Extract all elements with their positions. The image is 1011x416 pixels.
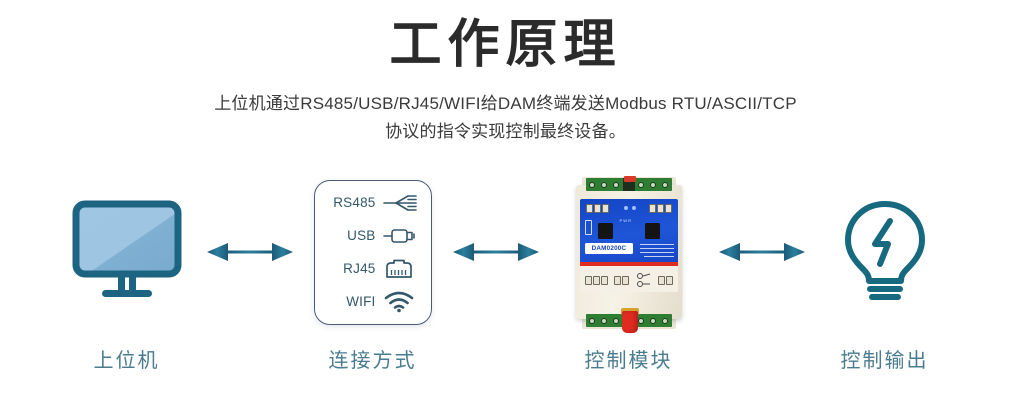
dam-device: P W R DAM0200C [568, 173, 690, 331]
device-front-panel: P W R DAM0200C [580, 199, 678, 263]
caption-control-output: 控制输出 [810, 344, 960, 373]
header: 工作原理 上位机通过RS485/USB/RJ45/WIFI给DAM终端发送Mod… [0, 0, 1011, 146]
legend-pin [658, 276, 665, 285]
legend-pin [614, 276, 621, 285]
relay-left [598, 223, 613, 239]
workflow-diagram: RS485 [0, 172, 1011, 332]
rs485-connector-icon [383, 190, 423, 216]
legend-pin [601, 276, 608, 285]
panel-pin [586, 204, 593, 213]
top-terminal-right-group [635, 178, 672, 191]
terminal-screw [650, 318, 656, 324]
terminal-screw [650, 182, 656, 188]
panel-spec-line [640, 248, 674, 249]
connection-row-usb[interactable]: USB [315, 219, 431, 252]
panel-pin [602, 204, 609, 213]
caption-host-computer: 上位机 [52, 344, 202, 373]
panel-pin [649, 204, 656, 213]
status-led [624, 206, 628, 210]
stage-control-module: P W R DAM0200C [544, 172, 714, 332]
subtitle-line-1: 上位机通过RS485/USB/RJ45/WIFI给DAM终端发送Modbus R… [0, 90, 1011, 118]
usb-connector-icon [383, 223, 423, 249]
legend-pin [593, 276, 600, 285]
rj45-port-icon [383, 256, 423, 282]
bottom-terminal-right-group [635, 314, 672, 327]
legend-pins-mid [614, 276, 629, 285]
lightbulb-lightning-icon [835, 196, 935, 309]
panel-pin [665, 204, 672, 213]
legend-pin [585, 276, 592, 285]
terminal-screw [613, 182, 619, 188]
subtitle-line-2: 协议的指令实现控制最终设备。 [0, 118, 1011, 146]
connection-row-wifi[interactable]: WIFI [315, 285, 431, 318]
caption-connection-methods: 连接方式 [298, 344, 448, 373]
connection-row-rj45[interactable]: RJ45 [315, 252, 431, 285]
page-title: 工作原理 [0, 16, 1011, 76]
panel-spec-line [640, 244, 674, 245]
connection-label-wifi: WIFI [328, 294, 376, 309]
stage-control-output [810, 172, 960, 332]
din-rail-clip [622, 311, 638, 333]
legend-pin [666, 276, 673, 285]
stage-host-computer [52, 172, 202, 332]
stage-connection-methods: RS485 [298, 172, 448, 332]
connection-label-usb: USB [328, 228, 376, 243]
device-terminal-legend [580, 266, 678, 292]
top-terminal-left-group [586, 178, 623, 191]
terminal-screw [589, 182, 595, 188]
arrow-module-to-output [714, 232, 810, 272]
bottom-terminal-left-group [586, 314, 623, 327]
subtitle: 上位机通过RS485/USB/RJ45/WIFI给DAM终端发送Modbus R… [0, 90, 1011, 146]
wifi-icon [383, 289, 423, 315]
connection-row-rs485[interactable]: RS485 [315, 186, 431, 219]
device-model-label: DAM0200C [585, 243, 633, 254]
relay-right [645, 223, 660, 239]
relay-symbol-icon [636, 271, 652, 289]
panel-pin [594, 204, 601, 213]
top-red-marker [624, 176, 636, 182]
arrow-connection-to-module [448, 232, 544, 272]
connection-label-rj45: RJ45 [328, 261, 376, 276]
terminal-screw [613, 318, 619, 324]
dip-switch [585, 220, 592, 235]
terminal-screw [589, 318, 595, 324]
monitor-icon [71, 199, 183, 306]
terminal-screw [638, 182, 644, 188]
legend-pins-left [585, 276, 608, 285]
connection-label-rs485: RS485 [328, 195, 376, 210]
panel-pins-left [586, 204, 609, 213]
panel-silkscreen: P W R [620, 218, 631, 223]
panel-pins-right [649, 204, 672, 213]
terminal-screw [601, 318, 607, 324]
panel-spec-line [644, 256, 674, 257]
terminal-screw [662, 318, 668, 324]
terminal-screw [638, 318, 644, 324]
terminal-screw [601, 182, 607, 188]
legend-pin [622, 276, 629, 285]
stage-captions: 上位机 连接方式 控制模块 控制输出 [0, 344, 1011, 373]
device-model-text: DAM0200C [591, 245, 626, 252]
legend-pins-right [658, 276, 673, 285]
panel-pin [657, 204, 664, 213]
caption-control-module: 控制模块 [544, 344, 714, 373]
panel-spec-line [640, 252, 674, 253]
connection-box: RS485 [314, 180, 432, 325]
terminal-screw [662, 182, 668, 188]
status-led [632, 206, 636, 210]
arrow-host-to-connection [202, 232, 298, 272]
